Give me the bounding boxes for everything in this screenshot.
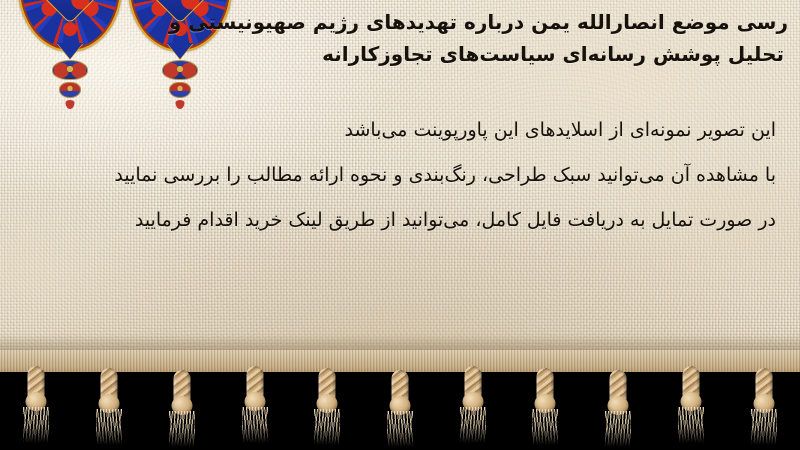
fringe-tassel [310,368,344,448]
slide-text-layer: رسی موضع انصارالله یمن درباره تهدیدهای ر… [0,0,800,372]
tassel-strands [314,409,340,445]
tassel-strands [169,411,195,447]
fringe-tassel [92,368,126,448]
tassel-strands [460,407,486,443]
slide-body: این تصویر نمونه‌ای از اسلایدهای این پاور… [24,108,776,243]
tassel-strands [387,411,413,447]
carpet-fringe-tassels [0,350,800,450]
fringe-tassel [383,370,417,450]
slide-body-line-3: در صورت تمایل به دریافت فایل کامل، می‌تو… [24,198,776,243]
fringe-tassel [674,366,708,446]
tassel-strands [678,407,704,443]
tassel-strands [96,409,122,445]
slide-title-line-2: تحلیل پوشش رسانه‌ای سیاست‌های تجاوزکاران… [144,38,784,70]
tassel-strands [532,409,558,445]
tassel-strands [242,407,268,443]
fringe-tassel [528,368,562,448]
slide-title: رسی موضع انصارالله یمن درباره تهدیدهای ر… [144,6,784,70]
tassel-strands [23,407,49,443]
fringe-tassel [165,370,199,450]
fringe-tassel [19,366,53,446]
tassel-row [0,366,800,450]
tassel-strands [751,409,777,445]
powerpoint-slide-preview: رسی موضع انصارالله یمن درباره تهدیدهای ر… [0,0,800,450]
slide-body-line-2: با مشاهده آن می‌توانید سبک طراحی، رنگ‌بن… [24,153,776,198]
tassel-strands [605,411,631,447]
fringe-tassel [238,366,272,446]
fringe-tassel [601,370,635,450]
slide-title-line-1: رسی موضع انصارالله یمن درباره تهدیدهای ر… [144,6,788,38]
fringe-tassel [747,368,781,448]
fringe-tassel [456,366,490,446]
slide-body-line-1: این تصویر نمونه‌ای از اسلایدهای این پاور… [24,108,776,153]
